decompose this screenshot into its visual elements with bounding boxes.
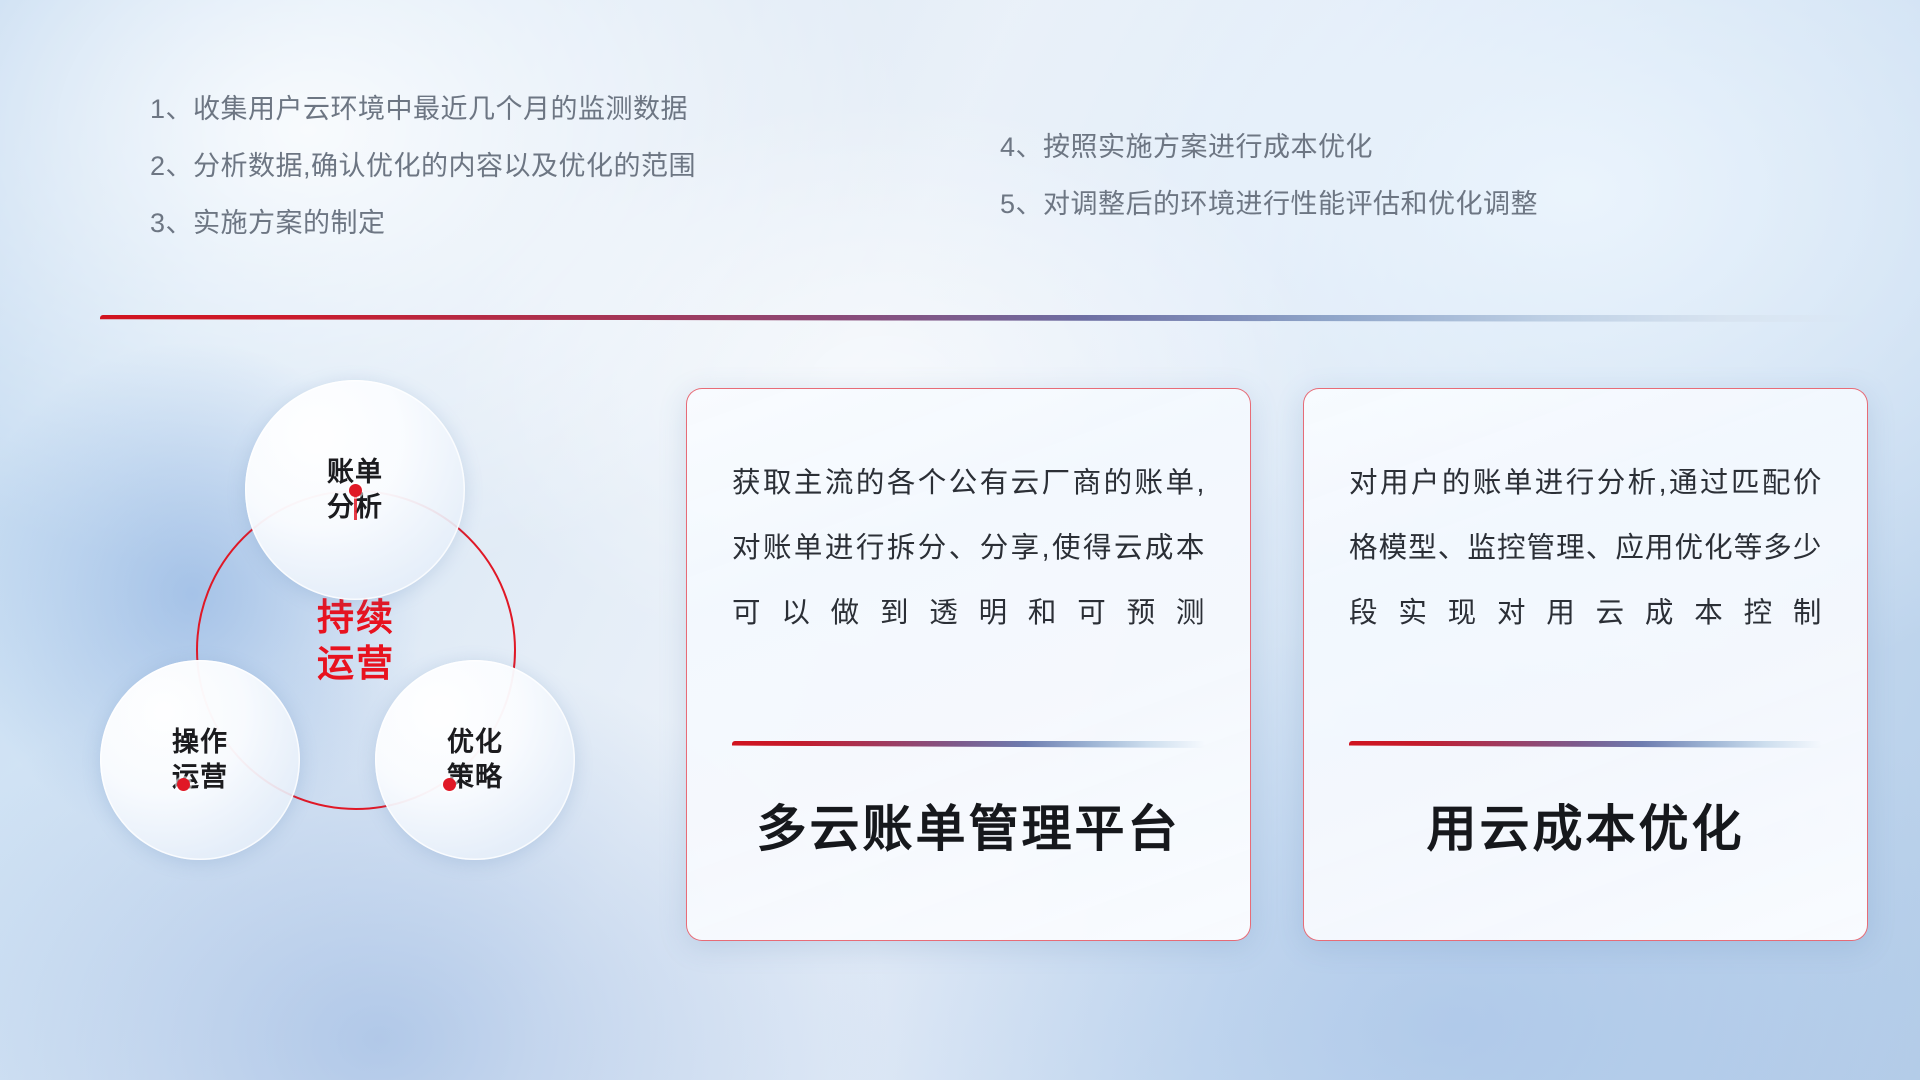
center-label-line-1: 持续 bbox=[196, 595, 516, 641]
connector-dot-bottom-right bbox=[443, 778, 456, 791]
card-body-text: 获取主流的各个公有云厂商的账单,对账单进行拆分、分享,使得云成本可以做到透明和可… bbox=[732, 451, 1205, 646]
card-accent-rule bbox=[732, 741, 1205, 748]
node-label-line-1: 优化 bbox=[447, 725, 503, 760]
connector-dot-top bbox=[349, 484, 362, 497]
diagram-node-operations[interactable]: 操作 运营 bbox=[100, 660, 300, 860]
steps-right-column: 4、按照实施方案进行成本优化 5、对调整后的环境进行性能评估和优化调整 bbox=[1000, 134, 1538, 248]
step-item: 4、按照实施方案进行成本优化 bbox=[1000, 134, 1538, 161]
card-cloud-cost-optimization[interactable]: 对用户的账单进行分析,通过匹配价格模型、监控管理、应用优化等多少段实现对用云成本… bbox=[1303, 388, 1868, 941]
step-item: 2、分析数据,确认优化的内容以及优化的范围 bbox=[150, 153, 696, 180]
card-title: 多云账单管理平台 bbox=[687, 789, 1250, 861]
diagram-node-optimization-strategy[interactable]: 优化 策略 bbox=[375, 660, 575, 860]
connector-dot-bottom-left bbox=[177, 778, 190, 791]
card-multicloud-billing-platform[interactable]: 获取主流的各个公有云厂商的账单,对账单进行拆分、分享,使得云成本可以做到透明和可… bbox=[686, 388, 1251, 941]
step-item: 5、对调整后的环境进行性能评估和优化调整 bbox=[1000, 191, 1538, 218]
connector-stem-top bbox=[354, 494, 357, 520]
steps-left-column: 1、收集用户云环境中最近几个月的监测数据 2、分析数据,确认优化的内容以及优化的… bbox=[150, 96, 696, 267]
card-title: 用云成本优化 bbox=[1304, 789, 1867, 861]
steps-section: 1、收集用户云环境中最近几个月的监测数据 2、分析数据,确认优化的内容以及优化的… bbox=[0, 96, 1920, 256]
card-accent-rule bbox=[1349, 741, 1822, 748]
node-label-line-2: 策略 bbox=[447, 760, 503, 795]
step-item: 3、实施方案的制定 bbox=[150, 210, 696, 237]
card-body-text: 对用户的账单进行分析,通过匹配价格模型、监控管理、应用优化等多少段实现对用云成本… bbox=[1349, 451, 1822, 646]
node-label-line-1: 操作 bbox=[172, 725, 228, 760]
step-item: 1、收集用户云环境中最近几个月的监测数据 bbox=[150, 96, 696, 123]
venn-diagram: 持续 运营 账单 分析 操作 运营 优化 策略 bbox=[100, 360, 620, 920]
